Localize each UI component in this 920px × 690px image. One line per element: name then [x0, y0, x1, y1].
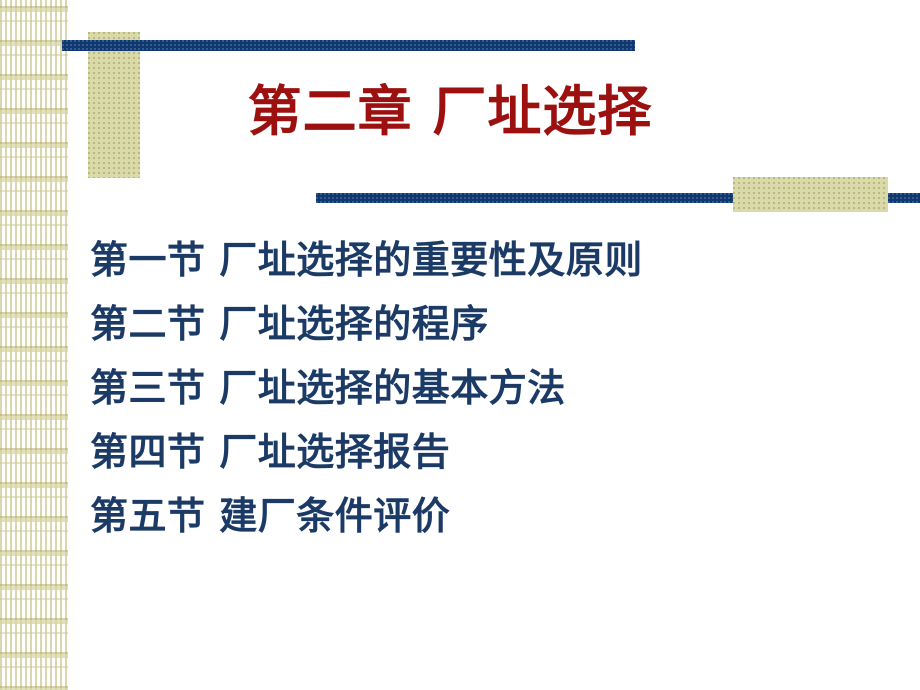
khaki-block-right [733, 177, 888, 212]
list-item: 第二节 厂址选择的程序 [90, 292, 890, 356]
section-list: 第一节 厂址选择的重要性及原则 第二节 厂址选择的程序 第三节 厂址选择的基本方… [90, 228, 890, 548]
list-item: 第五节 建厂条件评价 [90, 484, 890, 548]
list-item: 第三节 厂址选择的基本方法 [90, 356, 890, 420]
navy-bar-top [62, 40, 635, 51]
list-item: 第一节 厂址选择的重要性及原则 [90, 228, 890, 292]
page-title: 第二章 厂址选择 [0, 78, 920, 144]
slide-canvas: 第二章 厂址选择 第一节 厂址选择的重要性及原则 第二节 厂址选择的程序 第三节… [0, 0, 920, 690]
list-item: 第四节 厂址选择报告 [90, 420, 890, 484]
